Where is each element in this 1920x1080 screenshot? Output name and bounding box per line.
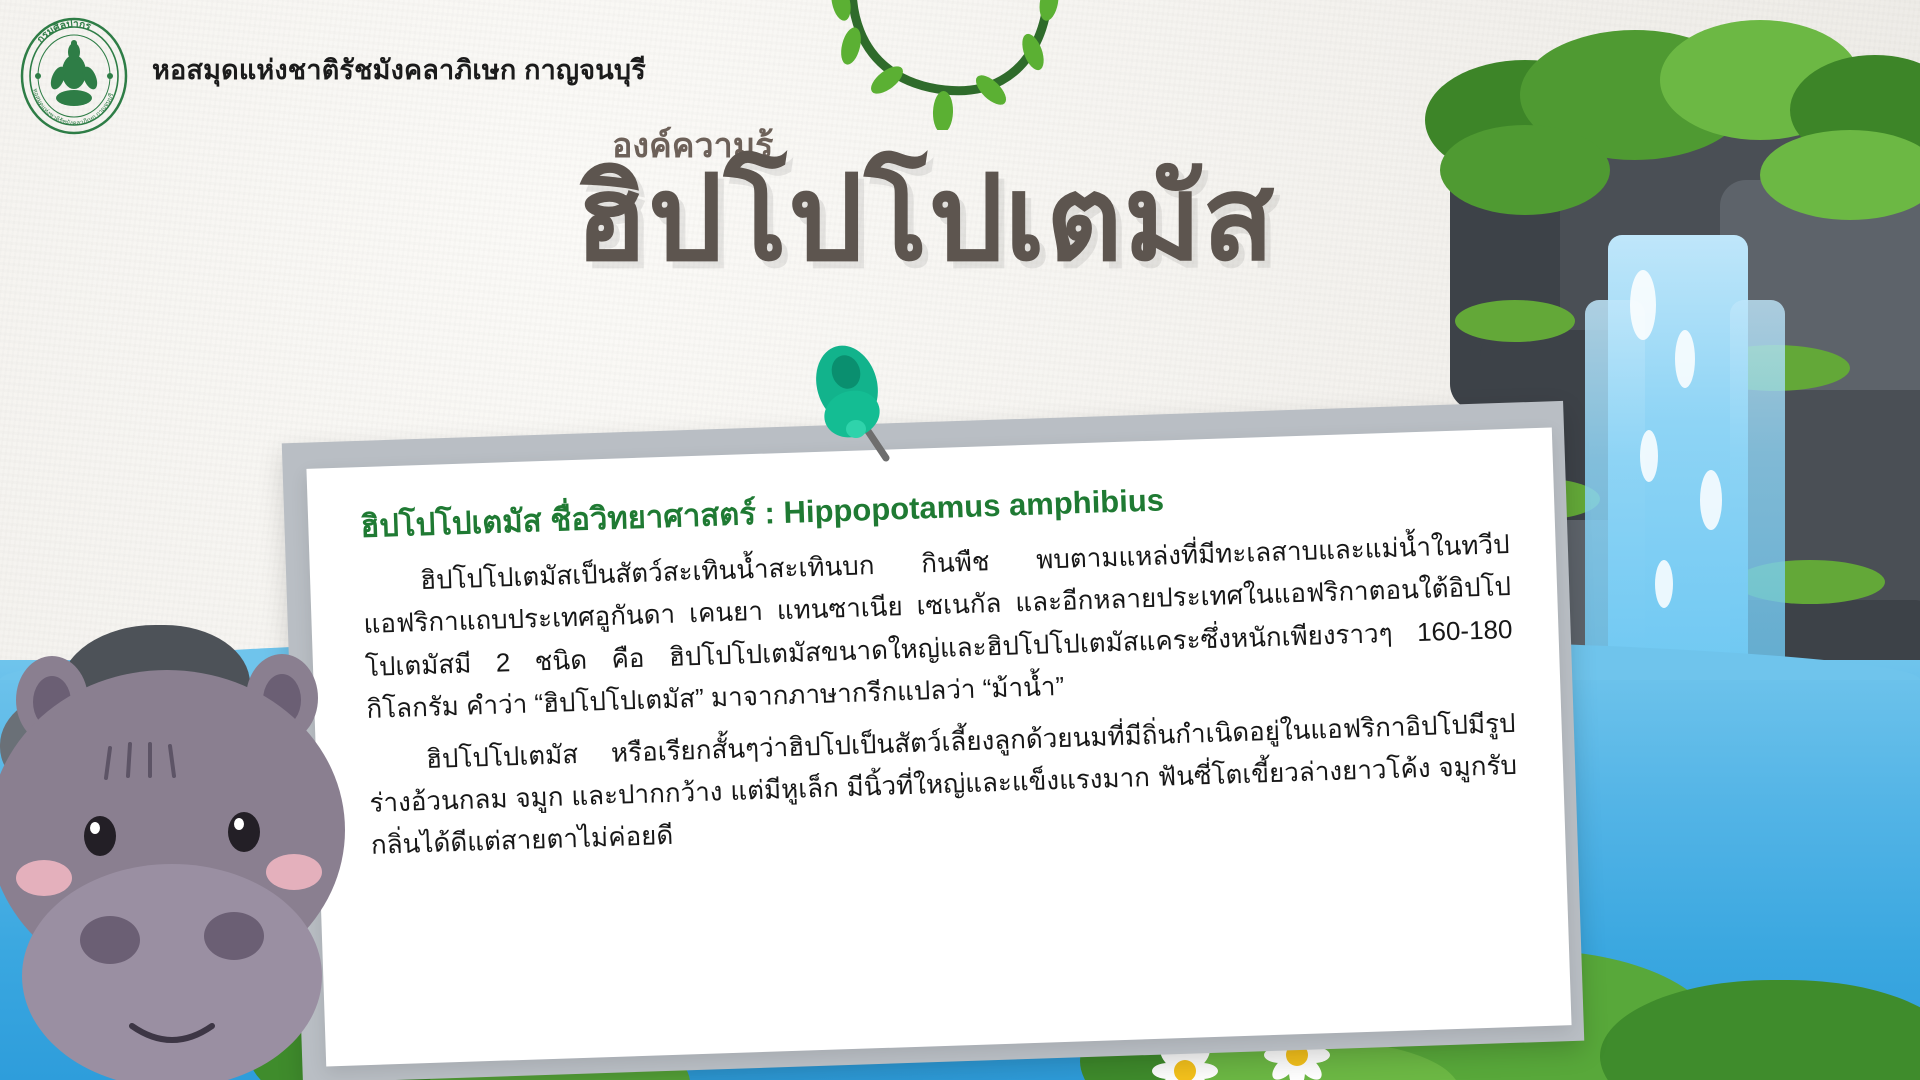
cartoon-hippo-icon <box>0 640 412 1080</box>
organization-name: หอสมุดแห่งชาติรัชมังคลาภิเษก กาญจนบุรี <box>152 48 646 91</box>
teal-pushpin-icon <box>800 330 910 470</box>
svg-text:กรมศิลปากร: กรมศิลปากร <box>35 18 93 45</box>
body-paragraph-1: ฮิปโปโปเตมัสเป็นสัตว์สะเทินน้ำสะเทินบก ก… <box>362 523 1515 729</box>
fine-arts-department-seal-icon: กรมศิลปากร หอสมุดแห่งชาติรัชมังคลาภิเษก … <box>14 16 134 136</box>
card-content: ฮิปโปโปเตมัส ชื่อวิทยาศาสตร์ : Hippopota… <box>306 428 1571 1067</box>
page-title: ฮิปโปโปเตมัส <box>575 155 1275 285</box>
body-paragraph-2: ฮิปโปโปเตมัส หรือเรียกสั้นๆว่าฮิปโปเป็นส… <box>367 702 1519 866</box>
green-vine-icon <box>825 0 1085 130</box>
poster-canvas: กรมศิลปากร หอสมุดแห่งชาติรัชมังคลาภิเษก … <box>0 0 1920 1080</box>
